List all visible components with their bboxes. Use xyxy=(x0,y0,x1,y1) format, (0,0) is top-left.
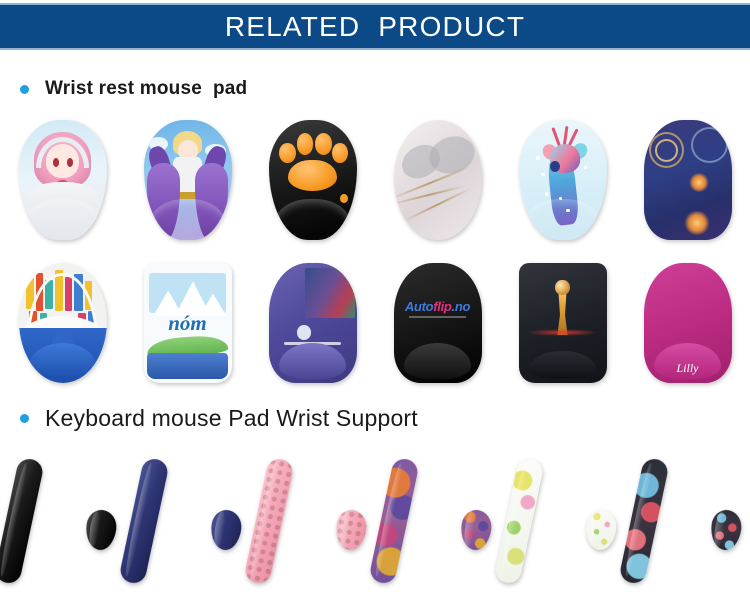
product-cell[interactable] xyxy=(625,110,750,250)
product-cell[interactable] xyxy=(500,448,625,596)
page-banner: RELATED PRODUCT xyxy=(0,3,750,50)
gel-wrist-rest xyxy=(29,343,96,379)
keyboard-wrist-rest-bar xyxy=(243,457,295,586)
nom-branded-gel-mouse-pad[interactable]: nóm xyxy=(144,263,232,383)
pink-lilly-gel-mouse-pad[interactable]: Lilly xyxy=(644,263,732,383)
product-artwork xyxy=(519,120,607,240)
product-row-2: nóm Autoflip.no xyxy=(0,258,750,388)
tropical-leaf-keyboard-wrist-rest-set[interactable] xyxy=(627,452,749,592)
gel-wrist-rest xyxy=(147,353,228,379)
pink-dimpled-keyboard-wrist-rest-set[interactable] xyxy=(252,452,374,592)
black-keyboard-wrist-rest-set[interactable] xyxy=(2,452,124,592)
product-row-1 xyxy=(0,110,750,250)
blue-mandala-wrist-rest-mouse-pad[interactable] xyxy=(644,120,732,240)
anime-pink-haired-girl-3d-mouse-pad[interactable] xyxy=(19,120,107,240)
page-title: RELATED PRODUCT xyxy=(225,11,525,43)
mouse-wrist-rest xyxy=(83,508,118,552)
navy-keyboard-wrist-rest-set[interactable] xyxy=(127,452,249,592)
product-cell[interactable] xyxy=(375,448,500,596)
black-cat-paw-3d-mouse-pad[interactable] xyxy=(269,120,357,240)
world-cup-trophy-gel-mouse-pad[interactable] xyxy=(519,263,607,383)
mouse-wrist-rest xyxy=(333,508,368,552)
brand-label: Lilly xyxy=(644,361,732,376)
purple-sports-logo-gel-mouse-pad[interactable] xyxy=(269,263,357,383)
product-artwork xyxy=(644,120,732,240)
purple-hexagon-mandala-keyboard-wrist-rest-set[interactable] xyxy=(377,452,499,592)
brand-part-no: .no xyxy=(452,299,471,314)
product-cell[interactable] xyxy=(125,448,250,596)
keyboard-wrist-rest-bar xyxy=(118,457,170,586)
colorful-deer-wrist-rest-mouse-pad[interactable] xyxy=(519,120,607,240)
mouse-wrist-rest xyxy=(458,508,493,552)
related-product-page: RELATED PRODUCT Wrist rest mouse pad xyxy=(0,0,750,597)
keyboard-wrist-rest-bar xyxy=(368,457,420,586)
product-artwork xyxy=(394,120,482,240)
mouse-wrist-rest xyxy=(583,508,618,552)
gel-wrist-rest xyxy=(279,343,346,379)
keyboard-wrist-rest-bar xyxy=(493,457,545,586)
brand-part-auto: Auto xyxy=(405,299,433,314)
autoflip-no-black-gel-mouse-pad[interactable]: Autoflip.no xyxy=(394,263,482,383)
brand-part-flip: flip xyxy=(433,299,451,314)
product-row-3 xyxy=(0,448,750,596)
product-cell[interactable]: Autoflip.no xyxy=(375,258,500,388)
city-map-round-gel-mouse-pad[interactable] xyxy=(19,263,107,383)
brand-label: Autoflip.no xyxy=(394,299,482,314)
product-cell[interactable] xyxy=(625,448,750,596)
product-cell[interactable] xyxy=(500,110,625,250)
keyboard-wrist-rest-bar xyxy=(0,457,44,586)
brand-label: nóm xyxy=(144,311,232,336)
bullet-icon xyxy=(20,414,29,423)
section-label: Wrist rest mouse pad xyxy=(45,78,247,100)
keyboard-wrist-rest-bar xyxy=(618,457,670,586)
section-label: Keyboard mouse Pad Wrist Support xyxy=(45,405,418,432)
product-cell[interactable] xyxy=(250,448,375,596)
bullet-icon xyxy=(20,85,29,94)
product-cell[interactable] xyxy=(0,110,125,250)
white-marble-wrist-rest-mouse-pad[interactable] xyxy=(394,120,482,240)
section-heading-wrist-rest-mouse-pad: Wrist rest mouse pad xyxy=(20,78,247,100)
product-cell[interactable] xyxy=(250,258,375,388)
product-cell[interactable] xyxy=(375,110,500,250)
product-artwork xyxy=(19,120,107,240)
mouse-wrist-rest xyxy=(208,508,243,552)
product-cell[interactable] xyxy=(0,448,125,596)
product-cell[interactable] xyxy=(250,110,375,250)
product-artwork xyxy=(269,120,357,240)
product-cell[interactable] xyxy=(500,258,625,388)
section-heading-keyboard-mouse-pad-wrist-support: Keyboard mouse Pad Wrist Support xyxy=(20,405,418,432)
anime-purple-outfit-3d-mouse-pad[interactable] xyxy=(144,120,232,240)
white-floral-keyboard-wrist-rest-set[interactable] xyxy=(502,452,624,592)
mouse-wrist-rest xyxy=(708,508,743,552)
product-cell[interactable] xyxy=(0,258,125,388)
product-cell[interactable]: Lilly xyxy=(625,258,750,388)
product-cell[interactable]: nóm xyxy=(125,258,250,388)
product-cell[interactable] xyxy=(125,110,250,250)
gel-wrist-rest xyxy=(404,343,471,379)
product-artwork xyxy=(144,120,232,240)
